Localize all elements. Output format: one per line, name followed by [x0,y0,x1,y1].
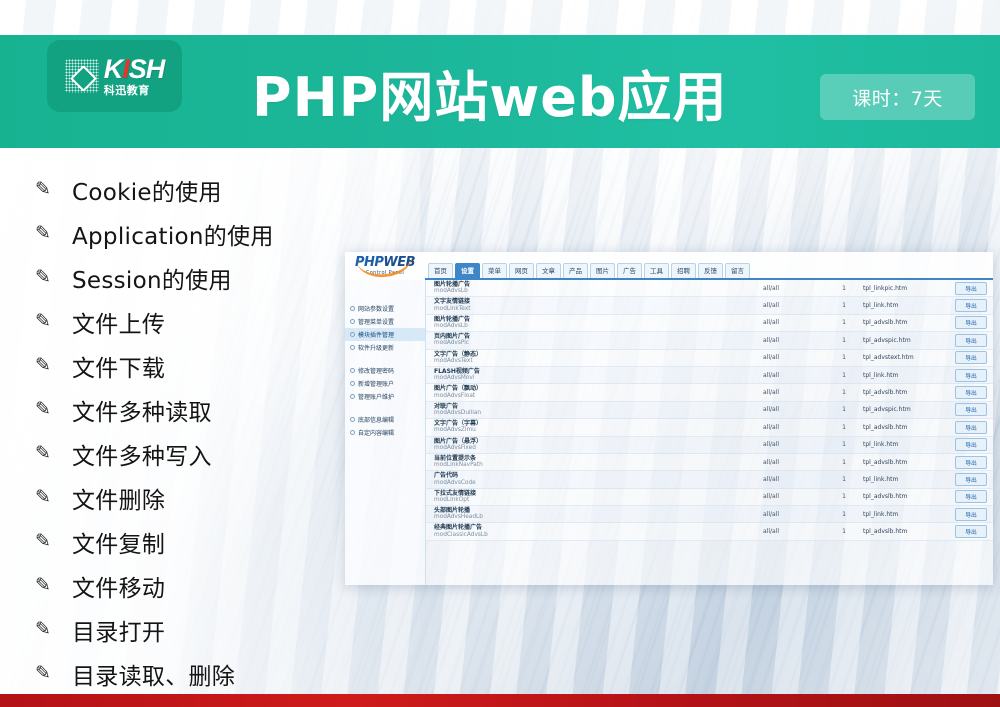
tab-3[interactable]: 菜单 [482,263,507,278]
list-item: ✎目录读取、删除 [30,652,410,696]
module-scope: all/all [763,441,825,448]
control-panel-tabs: 首页设置菜单网页文章产品图片广告工具招聘反馈留言 [425,252,993,280]
module-code: modLinkText [434,306,763,312]
table-row: 广告代码modAdvsCodeall/all1tpl_link.htm导出 [426,471,993,488]
list-item-label: 文件下载 [72,349,165,383]
list-item-label: 目录读取、删除 [72,657,235,691]
list-item-label: 文件移动 [72,569,165,603]
export-button[interactable]: 导出 [955,369,987,382]
module-name-cell: 文字广告（静态）modAdvsText [434,352,763,364]
tab-11[interactable]: 反馈 [698,263,723,278]
pencil-icon: ✎ [30,620,56,639]
module-count: 1 [825,528,863,535]
module-template: tpl_link.htm [863,476,955,483]
module-template: tpl_advslb.htm [863,389,955,396]
module-name-cell: 图片广告（悬浮）modAdvsFixed [434,439,763,451]
brand-letters-sh: SH [129,54,165,84]
module-template: tpl_link.htm [863,511,955,518]
pencil-icon: ✎ [30,224,56,243]
module-code: modAdvsPic [434,340,763,346]
list-item: ✎文件上传 [30,300,410,344]
module-scope: all/all [763,459,825,466]
tab-4[interactable]: 网页 [509,263,534,278]
module-code: modLinkNavPath [434,462,763,468]
list-item: ✎目录打开 [30,608,410,652]
list-item-label: 文件复制 [72,525,165,559]
list-item-label: Session的使用 [72,261,232,295]
module-code: modAdvsLb [434,323,763,329]
tab-5[interactable]: 文章 [536,263,561,278]
pencil-icon: ✎ [30,400,56,419]
list-item: ✎Application的使用 [30,212,410,256]
table-row: 文字广告（静态）modAdvsTextall/all1tpl_advstext.… [426,350,993,367]
table-row: 图片轮播广告modAdvsLball/all1tpl_linkpic.htm导出 [426,280,993,297]
module-template: tpl_link.htm [863,302,955,309]
module-template: tpl_advstext.htm [863,354,955,361]
module-name-cell: 广告代码modAdvsCode [434,473,763,485]
module-scope: all/all [763,511,825,518]
module-template: tpl_advslb.htm [863,493,955,500]
module-scope: all/all [763,372,825,379]
module-count: 1 [825,476,863,483]
table-row: FLASH视频广告modAdvsMoviall/all1tpl_link.htm… [426,367,993,384]
export-button[interactable]: 导出 [955,456,987,469]
course-hours-badge: 课时：7天 [820,74,975,120]
list-item-label: 目录打开 [72,613,165,647]
pencil-icon: ✎ [30,356,56,375]
list-item-label: Application的使用 [72,217,274,251]
list-item: ✎文件删除 [30,476,410,520]
module-count: 1 [825,354,863,361]
module-name-cell: 页内图片广告modAdvsPic [434,334,763,346]
table-row: 图片轮播广告modAdvsLball/all1tpl_advslb.htm导出 [426,315,993,332]
module-scope: all/all [763,337,825,344]
export-button[interactable]: 导出 [955,351,987,364]
list-item: ✎Cookie的使用 [30,168,410,212]
module-count: 1 [825,389,863,396]
list-item-label: 文件删除 [72,481,165,515]
page-title: PHP网站web应用 [252,47,728,137]
pencil-icon: ✎ [30,532,56,551]
module-count: 1 [825,459,863,466]
module-scope: all/all [763,354,825,361]
module-scope: all/all [763,302,825,309]
export-button[interactable]: 导出 [955,438,987,451]
control-panel-screenshot: PHPWEB Control Panel 首页设置菜单网页文章产品图片广告工具招… [345,252,993,585]
table-row: 头部图片轮播modAdvsHeadLball/all1tpl_link.htm导… [426,506,993,523]
module-count: 1 [825,372,863,379]
tab-9[interactable]: 工具 [644,263,669,278]
list-item: ✎文件下载 [30,344,410,388]
module-name-cell: 当前位置提示条modLinkNavPath [434,456,763,468]
footer-bar [0,694,1000,707]
table-row: 对联广告modAdvsDuilianall/all1tpl_advspic.ht… [426,402,993,419]
pencil-icon: ✎ [30,488,56,507]
module-count: 1 [825,319,863,326]
module-template: tpl_advslb.htm [863,528,955,535]
module-count: 1 [825,285,863,292]
export-button[interactable]: 导出 [955,334,987,347]
export-button[interactable]: 导出 [955,525,987,538]
module-count: 1 [825,337,863,344]
tab-2[interactable]: 设置 [455,263,480,278]
diamond-chip-icon [65,59,99,93]
module-scope: all/all [763,285,825,292]
list-item-label: 文件多种写入 [72,437,212,471]
module-name-cell: 文字广告（字幕）modAdvsZimu [434,421,763,433]
module-code: modAdvsFixed [434,445,763,451]
module-code: modLinkOpt [434,497,763,503]
topic-list: ✎Cookie的使用✎Application的使用✎Session的使用✎文件上… [30,168,410,696]
tab-10[interactable]: 招聘 [671,263,696,278]
list-item: ✎文件多种读取 [30,388,410,432]
list-item: ✎文件多种写入 [30,432,410,476]
module-scope: all/all [763,493,825,500]
table-row: 经典图片轮播广告modClassicAdvsLball/all1tpl_advs… [426,523,993,540]
module-scope: all/all [763,406,825,413]
module-code: modAdvsHeadLb [434,514,763,520]
control-panel-topbar: PHPWEB Control Panel 首页设置菜单网页文章产品图片广告工具招… [345,252,993,280]
list-item-label: Cookie的使用 [72,173,222,207]
brand-chinese-name: 科迅教育 [104,85,150,96]
tab-12[interactable]: 留言 [725,263,750,278]
list-item: ✎文件复制 [30,520,410,564]
pencil-icon: ✎ [30,312,56,331]
module-scope: all/all [763,476,825,483]
table-row: 文字广告（字幕）modAdvsZimuall/all1tpl_advslb.ht… [426,419,993,436]
export-button[interactable]: 导出 [955,386,987,399]
pencil-icon: ✎ [30,268,56,287]
list-item-label: 文件上传 [72,305,165,339]
module-name-cell: 图片轮播广告modAdvsLb [434,317,763,329]
brand-wordmark: KISH [104,56,165,83]
module-code: modAdvsDuilian [434,410,763,416]
tab-6[interactable]: 产品 [563,263,588,278]
module-code: modAdvsText [434,358,763,364]
module-scope: all/all [763,389,825,396]
list-item: ✎Session的使用 [30,256,410,300]
module-code: modAdvsFloat [434,393,763,399]
export-button[interactable]: 导出 [955,508,987,521]
module-code: modAdvsLb [434,288,763,294]
export-button[interactable]: 导出 [955,473,987,486]
module-name-cell: 下拉式友情链接modLinkOpt [434,491,763,503]
module-name-cell: FLASH视频广告modAdvsMovi [434,369,763,381]
export-button[interactable]: 导出 [955,316,987,329]
table-row: 页内图片广告modAdvsPicall/all1tpl_advspic.htm导… [426,332,993,349]
pencil-icon: ✎ [30,664,56,683]
module-code: modAdvsMovi [434,375,763,381]
module-template: tpl_advslb.htm [863,319,955,326]
module-count: 1 [825,493,863,500]
module-name-cell: 文字友情链接modLinkText [434,299,763,311]
export-button[interactable]: 导出 [955,403,987,416]
table-row: 当前位置提示条modLinkNavPathall/all1tpl_advslb.… [426,454,993,471]
export-button[interactable]: 导出 [955,421,987,434]
module-name-cell: 图片广告（飘动）modAdvsFloat [434,386,763,398]
brand-letter-k: K [104,54,123,84]
pencil-icon: ✎ [30,576,56,595]
pencil-icon: ✎ [30,444,56,463]
module-template: tpl_advslb.htm [863,459,955,466]
module-name-cell: 头部图片轮播modAdvsHeadLb [434,508,763,520]
module-count: 1 [825,424,863,431]
module-code: modAdvsZimu [434,427,763,433]
module-name-cell: 图片轮播广告modAdvsLb [434,282,763,294]
module-count: 1 [825,441,863,448]
tab-1[interactable]: 首页 [428,263,453,278]
tab-7[interactable]: 图片 [590,263,615,278]
export-button[interactable]: 导出 [955,299,987,312]
brand-logo: KISH 科迅教育 [47,40,182,112]
table-row: 图片广告（悬浮）modAdvsFixedall/all1tpl_link.htm… [426,437,993,454]
module-name-cell: 对联广告modAdvsDuilian [434,404,763,416]
export-button[interactable]: 导出 [955,282,987,295]
module-template: tpl_linkpic.htm [863,285,955,292]
table-row: 下拉式友情链接modLinkOptall/all1tpl_advslb.htm导… [426,489,993,506]
module-template: tpl_link.htm [863,372,955,379]
module-template: tpl_advspic.htm [863,337,955,344]
module-code: modAdvsCode [434,480,763,486]
module-scope: all/all [763,528,825,535]
export-button[interactable]: 导出 [955,490,987,503]
list-item-label: 文件多种读取 [72,393,212,427]
pencil-icon: ✎ [30,180,56,199]
module-template: tpl_link.htm [863,441,955,448]
module-template: tpl_advslb.htm [863,424,955,431]
module-name-cell: 经典图片轮播广告modClassicAdvsLb [434,525,763,537]
table-row: 图片广告（飘动）modAdvsFloatall/all1tpl_advslb.h… [426,384,993,401]
list-item: ✎文件移动 [30,564,410,608]
module-scope: all/all [763,424,825,431]
module-scope: all/all [763,319,825,326]
module-count: 1 [825,511,863,518]
module-code: modClassicAdvsLb [434,532,763,538]
module-table: 图片轮播广告modAdvsLball/all1tpl_linkpic.htm导出… [426,280,993,585]
module-template: tpl_advspic.htm [863,406,955,413]
module-count: 1 [825,302,863,309]
module-count: 1 [825,406,863,413]
table-row: 文字友情链接modLinkTextall/all1tpl_link.htm导出 [426,297,993,314]
tab-8[interactable]: 广告 [617,263,642,278]
